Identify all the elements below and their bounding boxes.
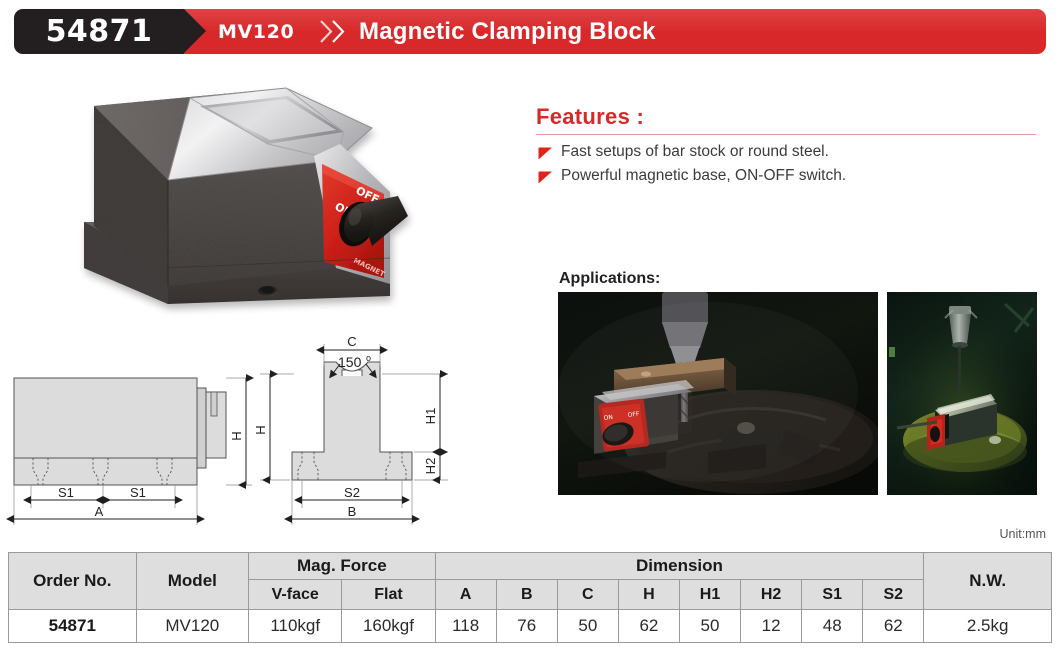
cell-order-no: 54871 — [9, 610, 137, 643]
feature-item: Fast setups of bar stock or round steel. — [536, 142, 1044, 162]
technical-drawings: S1 S1 A H — [0, 330, 520, 530]
red-triangle-bullet-icon — [538, 171, 553, 184]
header-dim-c: C — [557, 580, 618, 610]
table-row: 54871 MV120 110kgf 160kgf 118 76 50 62 5… — [9, 610, 1052, 643]
header-nw: N.W. — [924, 553, 1052, 610]
specification-table: Order No. Model Mag. Force Dimension N.W… — [8, 552, 1052, 643]
dim-label-s1-left: S1 — [58, 485, 74, 500]
feature-item: Powerful magnetic base, ON-OFF switch. — [536, 166, 1044, 186]
product-photo: ON OFF MAGNET — [72, 72, 442, 327]
dim-label-h-front: H — [253, 425, 268, 434]
dim-label-h1: H1 — [423, 408, 438, 425]
dim-label-s2: S2 — [344, 485, 360, 500]
cell-dim-a: 118 — [435, 610, 496, 643]
cell-dim-h1: 50 — [679, 610, 740, 643]
dim-label-b: B — [348, 504, 357, 519]
badge-arrow-point-icon — [184, 9, 206, 53]
features-section: Features : Fast setups of bar stock or r… — [536, 104, 1044, 190]
header-dim-b: B — [496, 580, 557, 610]
dim-label-c: C — [347, 334, 356, 349]
page-header-bar: 54871 MV120 Magnetic Clamping Block — [14, 9, 1046, 54]
cell-flat: 160kgf — [342, 610, 435, 643]
unit-note: Unit:mm — [999, 527, 1046, 541]
header-v-face: V-face — [249, 580, 342, 610]
applications-photo-strip: ON OFF — [558, 292, 1044, 495]
header-mag-force: Mag. Force — [249, 553, 436, 580]
cell-dim-b: 76 — [496, 610, 557, 643]
angle-label-150: 150 — [338, 354, 362, 370]
header-model-text: MV120 — [218, 9, 294, 54]
cell-dim-c: 50 — [557, 610, 618, 643]
red-triangle-bullet-icon — [538, 147, 553, 160]
header-model: Model — [136, 553, 249, 610]
order-number-text: 54871 — [14, 9, 184, 54]
dim-label-h2: H2 — [423, 458, 438, 475]
cell-dim-h: 62 — [618, 610, 679, 643]
feature-text: Powerful magnetic base, ON-OFF switch. — [561, 166, 846, 186]
page-title: Magnetic Clamping Block — [359, 9, 656, 54]
application-photo-rotary-table — [887, 292, 1037, 495]
header-dim-s2: S2 — [863, 580, 924, 610]
chevron-right-icon-2 — [332, 20, 345, 43]
header-dim-h: H — [618, 580, 679, 610]
application-photo-drilling: ON OFF — [558, 292, 878, 495]
applications-section: Applications: — [558, 270, 1044, 495]
cell-model: MV120 — [136, 610, 249, 643]
header-dim-h2: H2 — [741, 580, 802, 610]
header-flat: Flat — [342, 580, 435, 610]
cell-dim-s2: 62 — [863, 610, 924, 643]
features-heading: Features : — [536, 104, 1044, 130]
features-divider — [536, 134, 1036, 135]
dim-label-a: A — [95, 504, 104, 519]
header-dim-a: A — [435, 580, 496, 610]
cell-dim-s1: 48 — [802, 610, 863, 643]
header-dim-h1: H1 — [679, 580, 740, 610]
dim-label-s1-right: S1 — [130, 485, 146, 500]
cell-nw: 2.5kg — [924, 610, 1052, 643]
cell-dim-h2: 12 — [741, 610, 802, 643]
feature-text: Fast setups of bar stock or round steel. — [561, 142, 829, 162]
header-order-no: Order No. — [9, 553, 137, 610]
header-dimension: Dimension — [435, 553, 924, 580]
applications-heading: Applications: — [559, 270, 1044, 288]
angle-degree-symbol: o — [366, 353, 371, 363]
table-header-row-1: Order No. Model Mag. Force Dimension N.W… — [9, 553, 1052, 580]
header-dim-s1: S1 — [802, 580, 863, 610]
cell-v-face: 110kgf — [249, 610, 342, 643]
dim-label-h-side: H — [229, 431, 244, 440]
